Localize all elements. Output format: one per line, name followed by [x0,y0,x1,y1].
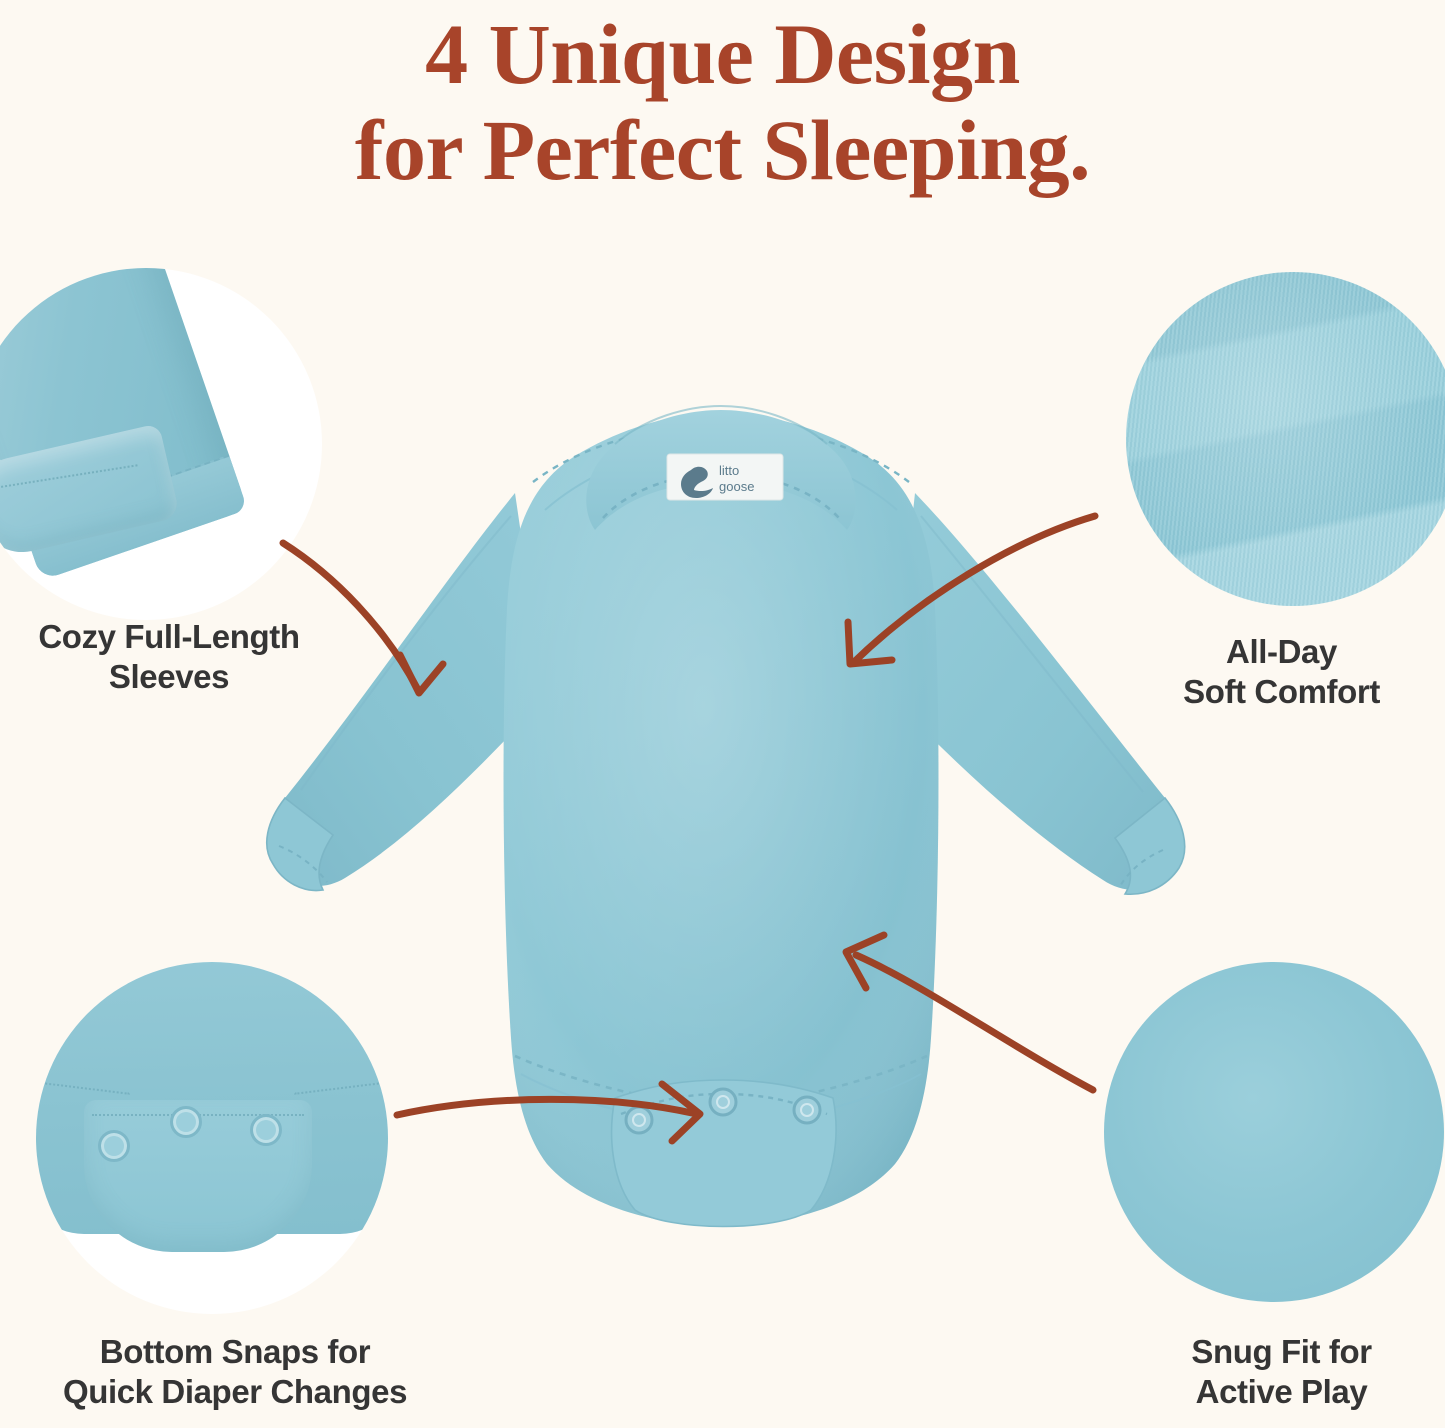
snap-button [626,1107,652,1133]
callout-label-bottom-snaps: Bottom Snaps for Quick Diaper Changes [0,1332,470,1413]
brand-tag: litto goose [667,454,783,500]
snap-button [170,1106,202,1138]
page-title: 4 Unique Design for Perfect Sleeping. [0,6,1445,199]
callout-label-cozy-full-length-sleeves: Cozy Full-Length Sleeves [0,617,338,698]
product-image-bodysuit: litto goose [215,398,1230,1243]
infographic-canvas: 4 Unique Design for Perfect Sleeping. [0,0,1445,1428]
callout-label-all-day-soft-comfort: All-Day Soft Comfort [1118,632,1445,713]
brand-tag-line1: litto [719,463,739,478]
callout-label-snug-fit: Snug Fit for Active Play [1118,1332,1445,1413]
snap-button [794,1097,820,1123]
snap-button [98,1130,130,1162]
brand-tag-line2: goose [719,479,754,494]
snap-button [710,1089,736,1115]
snap-seam-left [36,1079,130,1095]
